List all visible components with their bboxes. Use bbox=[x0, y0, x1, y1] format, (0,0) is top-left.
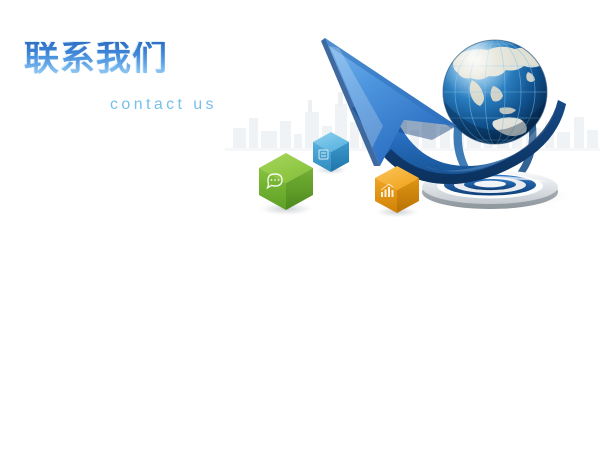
orange-cube-shadow bbox=[373, 206, 421, 218]
blue-cube bbox=[313, 132, 349, 172]
bar-chart-trend-line bbox=[381, 184, 393, 190]
globe-platform-base bbox=[422, 170, 558, 209]
arrow-head bbox=[325, 38, 457, 166]
orange-cube-left bbox=[375, 178, 397, 213]
arrow-ribbon-edge bbox=[384, 100, 566, 184]
continent-islands bbox=[499, 107, 516, 114]
globe-stem bbox=[454, 118, 537, 178]
continent-australia bbox=[492, 117, 526, 136]
orange-cube bbox=[375, 166, 419, 213]
upward-growth-arrow bbox=[321, 38, 566, 184]
orange-cube-top bbox=[375, 166, 419, 190]
blue-cube-right bbox=[331, 142, 349, 172]
arrow-head-gloss bbox=[330, 46, 383, 148]
globe-ground-shadow bbox=[408, 181, 576, 211]
blue-cube-left bbox=[313, 142, 331, 172]
speech-bubble-icon bbox=[268, 174, 283, 188]
continent-eurasia bbox=[453, 47, 542, 80]
blue-cube-shadow bbox=[313, 165, 349, 175]
green-cube bbox=[259, 153, 313, 210]
bar-chart-icon bbox=[381, 187, 394, 197]
arrow-ribbon-gloss bbox=[425, 104, 556, 172]
arrow-ribbon-body bbox=[352, 92, 566, 184]
arrow-head-right-edge bbox=[323, 38, 457, 128]
arrow-head-highlight bbox=[321, 38, 380, 166]
green-cube-shadow bbox=[256, 202, 316, 216]
green-cube-right bbox=[286, 168, 313, 210]
banner-canvas: 联系我们 联系我们 contact us bbox=[0, 0, 600, 450]
blue-globe bbox=[443, 40, 547, 148]
page-subtitle-en: contact us bbox=[110, 96, 217, 114]
document-icon bbox=[319, 150, 328, 159]
arrow-head-notch-shade bbox=[398, 120, 457, 140]
green-cube-left bbox=[259, 168, 286, 210]
headline-block: 联系我们 联系我们 contact us bbox=[0, 0, 300, 140]
page-title-cn: 联系我们 bbox=[24, 42, 168, 77]
continent-japan bbox=[526, 72, 535, 82]
blue-cube-top bbox=[313, 132, 349, 152]
green-cube-top bbox=[259, 153, 313, 183]
orange-cube-right bbox=[397, 178, 419, 213]
continent-se-asia bbox=[491, 86, 504, 101]
continent-south-asia bbox=[470, 80, 484, 106]
